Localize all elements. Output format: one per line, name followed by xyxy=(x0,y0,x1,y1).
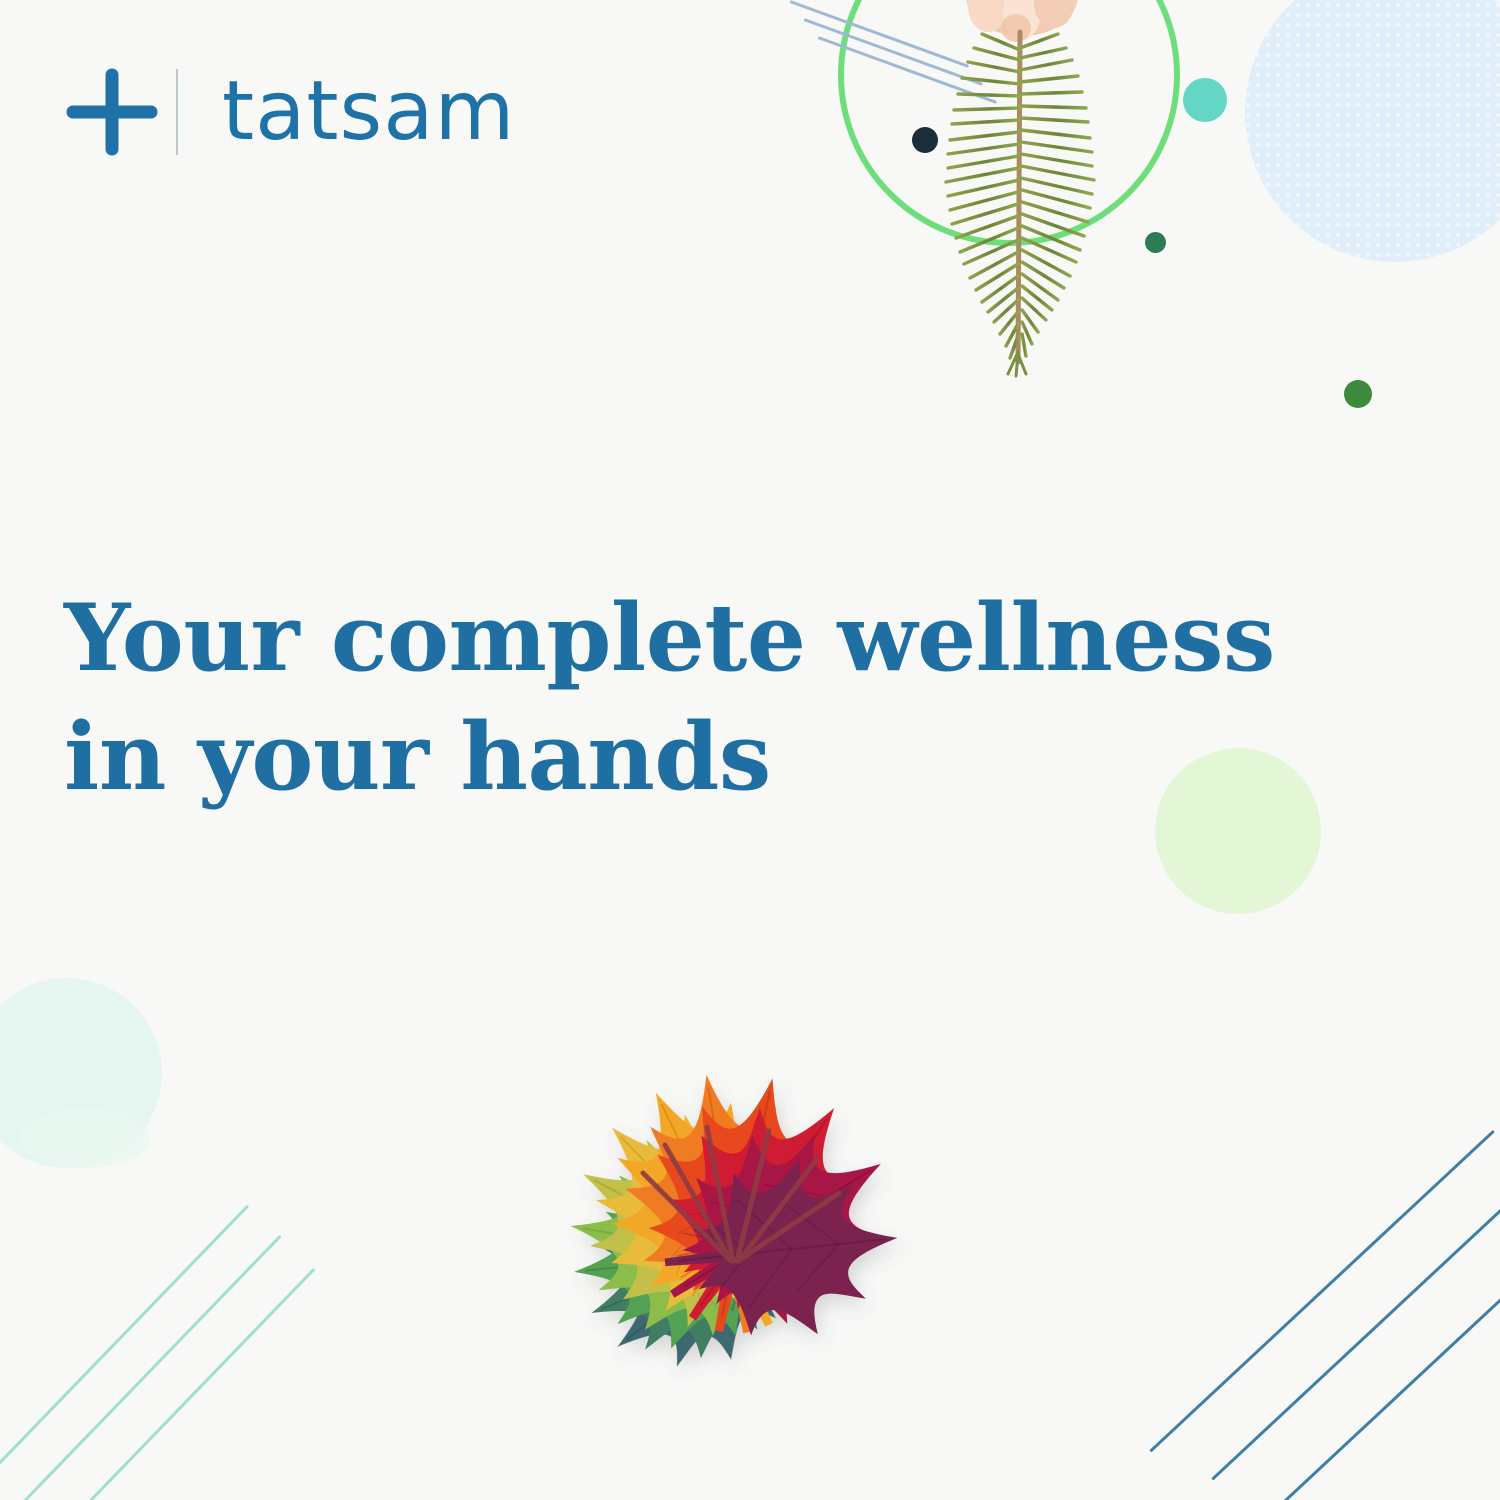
teal-dot xyxy=(1183,78,1227,122)
bottom-right-blue-lines xyxy=(1140,1010,1500,1500)
navy-dot xyxy=(912,127,938,153)
logo-divider xyxy=(176,69,178,155)
brand-wordmark: tatsam xyxy=(222,71,515,153)
top-right-blue-lines xyxy=(770,0,1000,90)
color-wheel-leaf-fan-image xyxy=(415,855,1055,1445)
dotted-circle xyxy=(1245,0,1500,262)
bottom-left-mint-lines xyxy=(0,1120,380,1500)
pale-mint-circle-secondary xyxy=(20,1108,150,1168)
brand-logo[interactable]: tatsam xyxy=(66,66,515,158)
headline-line-2: in your hands xyxy=(64,697,1244,816)
hand-holding-fir-sprig-image xyxy=(930,0,1110,380)
plus-cross-icon xyxy=(66,66,158,158)
green-dot xyxy=(1344,380,1372,408)
pale-mint-circle xyxy=(0,978,162,1168)
poster-canvas: tatsam Your complete wellness in your ha… xyxy=(0,0,1500,1500)
dark-green-dot xyxy=(1145,232,1166,253)
green-ring-outline xyxy=(838,0,1180,246)
page-headline: Your complete wellness in your hands xyxy=(64,578,1244,816)
headline-line-1: Your complete wellness xyxy=(64,578,1244,697)
